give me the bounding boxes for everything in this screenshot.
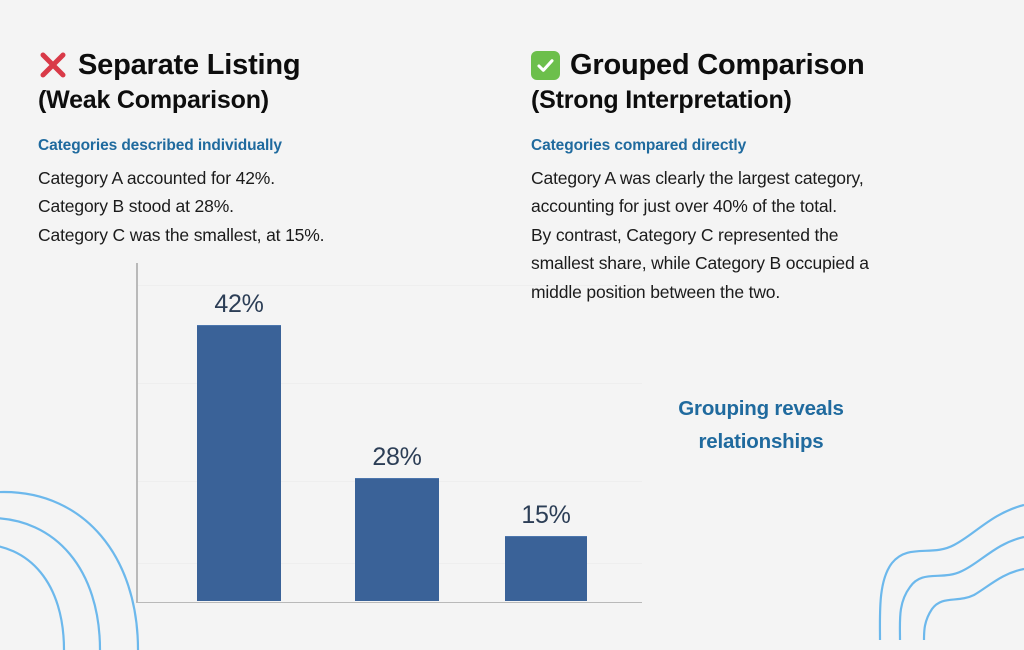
left-section-subtitle: Categories described individually	[38, 137, 508, 155]
bar[interactable]	[355, 478, 439, 601]
bar-value-label: 28%	[372, 443, 421, 472]
check-mark-badge-icon	[531, 51, 560, 80]
list-item: By contrast, Category C represented the	[531, 221, 991, 250]
bar[interactable]	[505, 536, 587, 601]
list-item: Category A was clearly the largest categ…	[531, 164, 991, 193]
list-item: Category A accounted for 42%.	[38, 164, 508, 193]
chart-x-axis	[136, 602, 642, 604]
decorative-waves-bottom-right	[834, 475, 1024, 640]
left-panel: Separate Listing (Weak Comparison) Categ…	[38, 50, 508, 249]
list-item: accounting for just over 40% of the tota…	[531, 192, 991, 221]
list-item: Category C was the smallest, at 15%.	[38, 221, 508, 250]
right-heading-subtitle: (Strong Interpretation)	[531, 87, 991, 115]
left-heading-title: Separate Listing	[78, 50, 300, 80]
left-heading-row: Separate Listing	[38, 50, 508, 80]
bar-group[interactable]: 15%	[505, 536, 587, 601]
bar[interactable]	[197, 325, 281, 601]
bar-group[interactable]: 42%	[197, 325, 281, 601]
right-heading-title: Grouped Comparison	[570, 50, 864, 80]
bar-value-label: 42%	[214, 290, 263, 319]
left-body-text: Category A accounted for 42%. Category B…	[38, 164, 508, 250]
chart-bars: 42% 28% 15%	[136, 263, 642, 601]
left-heading-subtitle: (Weak Comparison)	[38, 87, 508, 115]
cross-mark-icon	[38, 50, 68, 80]
right-heading-row: Grouped Comparison	[531, 50, 991, 80]
bar-value-label: 15%	[521, 501, 570, 530]
right-section-subtitle: Categories compared directly	[531, 137, 991, 155]
bar-group[interactable]: 28%	[355, 478, 439, 601]
bar-chart: 42% 28% 15%	[136, 263, 642, 603]
list-item: Category B stood at 28%.	[38, 192, 508, 221]
